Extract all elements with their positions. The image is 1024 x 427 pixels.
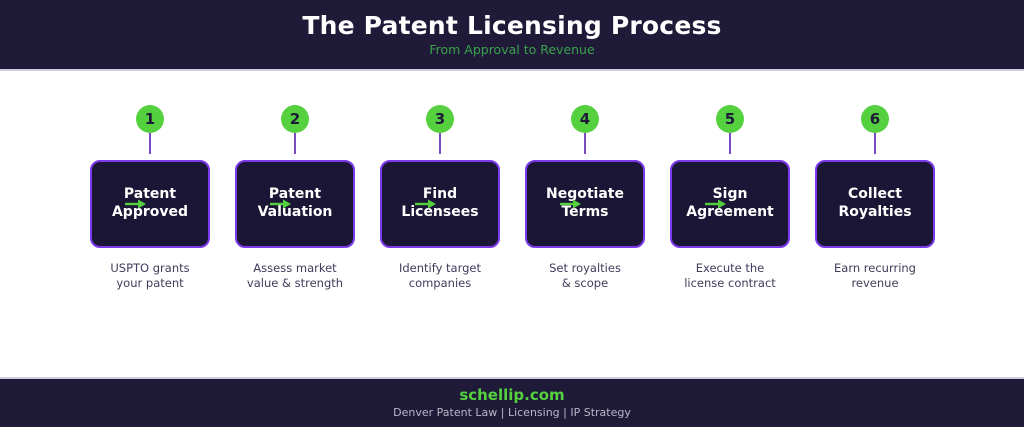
page-title: The Patent Licensing Process — [302, 12, 721, 40]
step-box-label: Find Licensees — [401, 186, 478, 222]
step-caption: Set royalties & scope — [549, 261, 621, 291]
step-number-badge: 6 — [861, 105, 889, 133]
step-box-label: Patent Valuation — [258, 186, 333, 222]
step-connector-stem — [439, 133, 441, 154]
step-box[interactable]: Negotiate Terms — [525, 160, 645, 248]
step-caption: USPTO grants your patent — [110, 261, 189, 291]
step-number-badge: 3 — [426, 105, 454, 133]
header-banner: The Patent Licensing Process From Approv… — [0, 0, 1024, 71]
step-number-badge: 5 — [716, 105, 744, 133]
step-caption: Assess market value & strength — [247, 261, 343, 291]
step-badge-group: 4 — [571, 105, 599, 160]
step-box[interactable]: Sign Agreement — [670, 160, 790, 248]
step-connector-stem — [584, 133, 586, 154]
footer-banner: schellip.com Denver Patent Law | Licensi… — [0, 377, 1024, 427]
step-box[interactable]: Patent Approved — [90, 160, 210, 248]
step-box[interactable]: Collect Royalties — [815, 160, 935, 248]
step-box-label: Patent Approved — [112, 186, 188, 222]
step-box-label: Sign Agreement — [686, 186, 774, 222]
step-box-label: Negotiate Terms — [546, 186, 624, 222]
process-step: 1Patent ApprovedUSPTO grants your patent — [90, 105, 210, 291]
step-connector-stem — [149, 133, 151, 154]
step-number-badge: 2 — [281, 105, 309, 133]
step-badge-group: 1 — [136, 105, 164, 160]
process-step: 5Sign AgreementExecute the license contr… — [670, 105, 790, 291]
infographic-page: The Patent Licensing Process From Approv… — [0, 0, 1024, 427]
step-badge-group: 5 — [716, 105, 744, 160]
step-connector-stem — [874, 133, 876, 154]
step-box[interactable]: Patent Valuation — [235, 160, 355, 248]
process-flow-area: 1Patent ApprovedUSPTO grants your patent… — [0, 71, 1024, 377]
step-badge-group: 3 — [426, 105, 454, 160]
process-step-list: 1Patent ApprovedUSPTO grants your patent… — [90, 105, 935, 291]
step-connector-stem — [294, 133, 296, 154]
process-step: 3Find LicenseesIdentify target companies — [380, 105, 500, 291]
step-number-badge: 4 — [571, 105, 599, 133]
step-caption: Execute the license contract — [684, 261, 776, 291]
step-box[interactable]: Find Licensees — [380, 160, 500, 248]
step-badge-group: 6 — [861, 105, 889, 160]
footer-brand-link[interactable]: schellip.com — [459, 387, 564, 404]
step-connector-stem — [729, 133, 731, 154]
footer-tagline: Denver Patent Law | Licensing | IP Strat… — [393, 407, 631, 419]
step-badge-group: 2 — [281, 105, 309, 160]
step-caption: Identify target companies — [399, 261, 481, 291]
step-box-label: Collect Royalties — [838, 186, 911, 222]
process-step: 4Negotiate TermsSet royalties & scope — [525, 105, 645, 291]
step-number-badge: 1 — [136, 105, 164, 133]
process-step: 2Patent ValuationAssess market value & s… — [235, 105, 355, 291]
page-subtitle: From Approval to Revenue — [429, 43, 594, 57]
process-step: 6Collect RoyaltiesEarn recurring revenue — [815, 105, 935, 291]
step-caption: Earn recurring revenue — [834, 261, 916, 291]
